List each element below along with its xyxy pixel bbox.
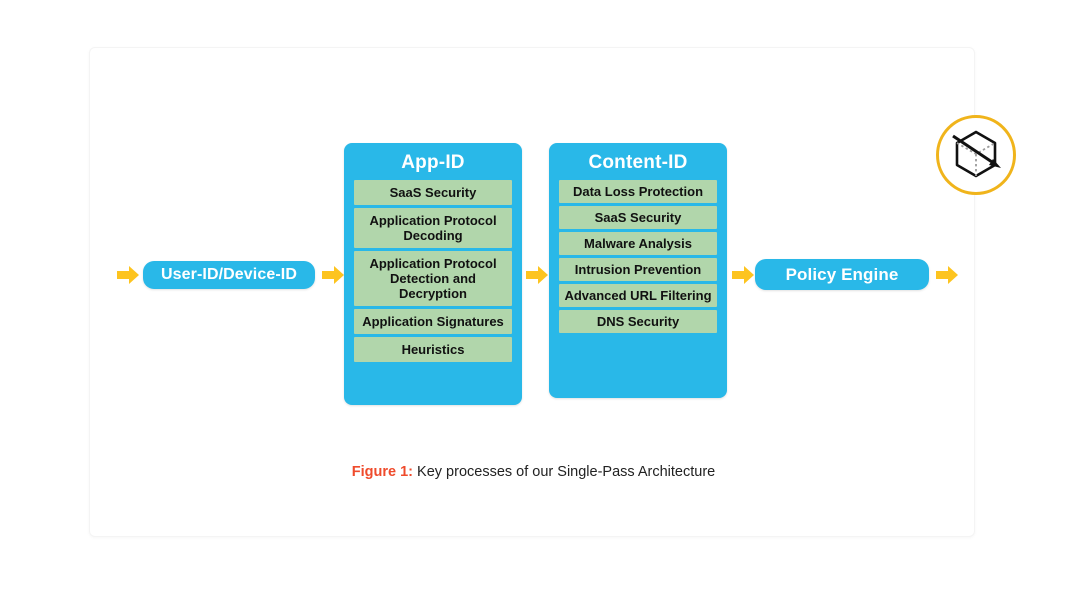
group-item[interactable]: Data Loss Protection <box>559 180 717 203</box>
group-app-id-title: App-ID <box>354 149 512 177</box>
cube-arrow-icon <box>945 124 1007 186</box>
group-item[interactable]: Advanced URL Filtering <box>559 284 717 307</box>
group-content-id-items: Data Loss Protection SaaS Security Malwa… <box>559 180 717 333</box>
single-pass-cube-badge <box>936 115 1016 195</box>
right-arrow-icon <box>320 263 346 287</box>
node-policy-engine[interactable]: Policy Engine <box>755 259 929 290</box>
group-content-id-title: Content-ID <box>559 149 717 177</box>
right-arrow-icon <box>730 263 756 287</box>
group-item[interactable]: Application Signatures <box>354 309 512 334</box>
figure-caption: Figure 1: Key processes of our Single-Pa… <box>0 462 1067 482</box>
single-pass-architecture-diagram: User-ID/Device-ID App-ID SaaS Security A… <box>0 0 1067 593</box>
group-app-id-items: SaaS Security Application Protocol Decod… <box>354 180 512 362</box>
figure-caption-text: Key processes of our Single-Pass Archite… <box>417 464 715 480</box>
group-item[interactable]: SaaS Security <box>354 180 512 205</box>
right-arrow-icon <box>524 263 550 287</box>
right-arrow-icon <box>934 263 960 287</box>
node-user-id-device-id[interactable]: User-ID/Device-ID <box>143 261 315 289</box>
right-arrow-icon <box>115 263 141 287</box>
group-item[interactable]: Intrusion Prevention <box>559 258 717 281</box>
group-content-id[interactable]: Content-ID Data Loss Protection SaaS Sec… <box>549 143 727 398</box>
group-item[interactable]: Application Protocol Detection and Decry… <box>354 251 512 306</box>
group-item[interactable]: Heuristics <box>354 337 512 362</box>
node-policy-engine-label: Policy Engine <box>786 265 899 285</box>
group-item[interactable]: Malware Analysis <box>559 232 717 255</box>
group-item[interactable]: Application Protocol Decoding <box>354 208 512 248</box>
node-user-id-device-id-label: User-ID/Device-ID <box>161 266 297 284</box>
figure-label: Figure 1: <box>352 464 413 480</box>
group-item[interactable]: SaaS Security <box>559 206 717 229</box>
group-app-id[interactable]: App-ID SaaS Security Application Protoco… <box>344 143 522 405</box>
group-item[interactable]: DNS Security <box>559 310 717 333</box>
